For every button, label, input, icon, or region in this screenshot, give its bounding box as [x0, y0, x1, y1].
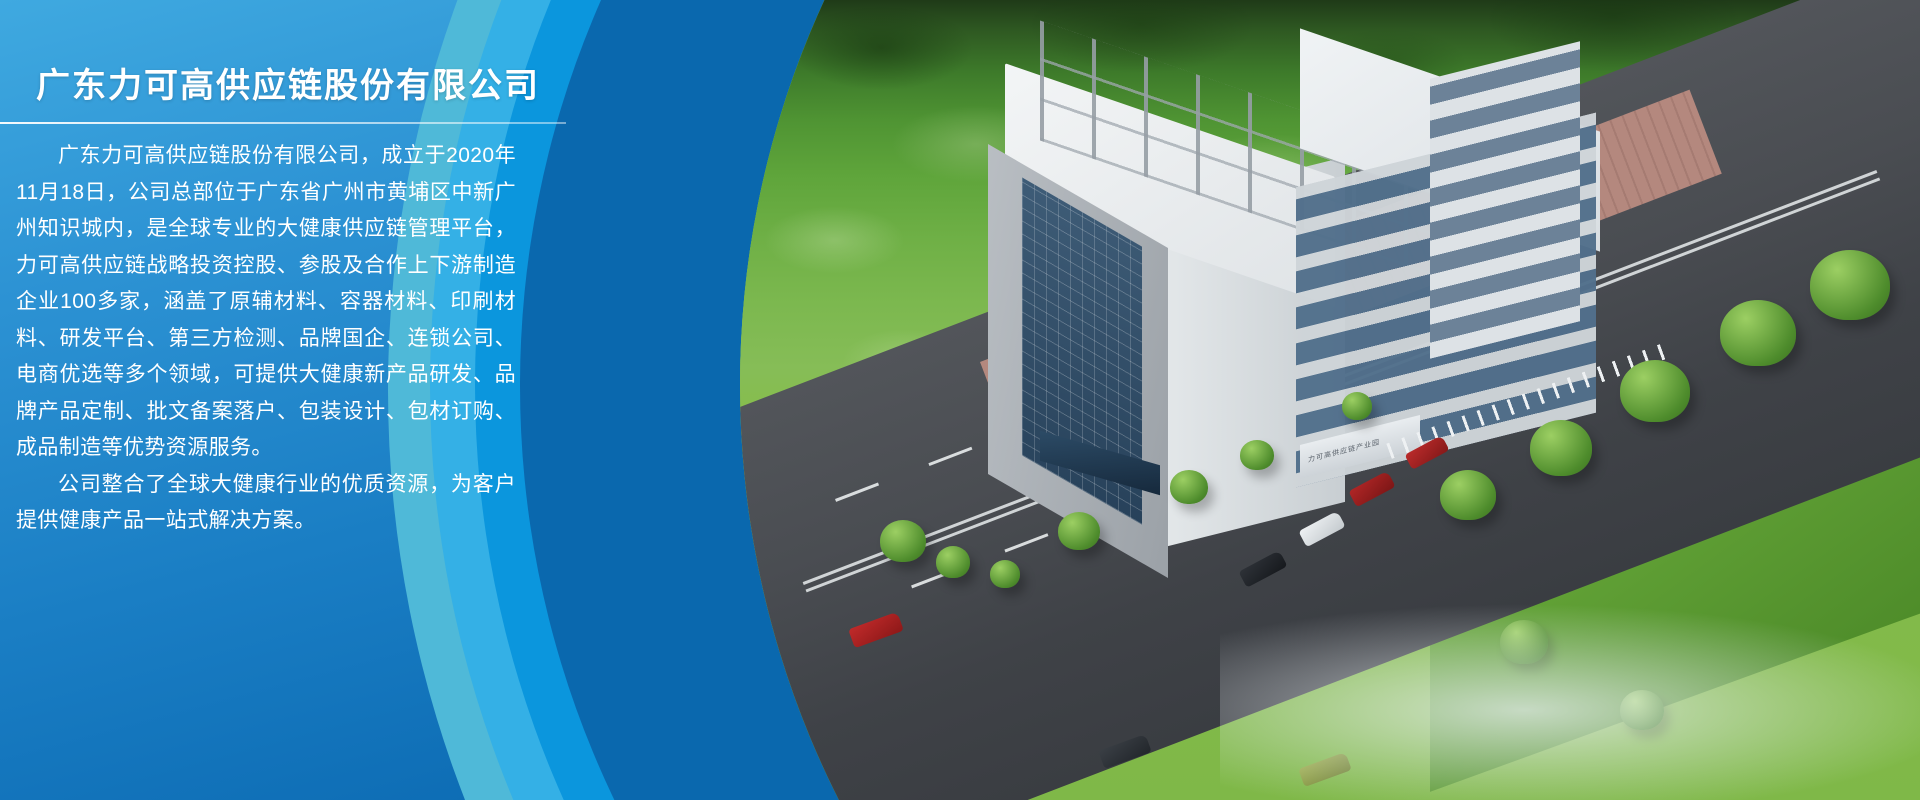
- company-description: 广东力可高供应链股份有限公司，成立于2020年11月18日，公司总部位于广东省广…: [16, 138, 516, 540]
- mist-overlay: [1220, 600, 1920, 800]
- tree: [1240, 440, 1274, 470]
- tree: [990, 560, 1020, 588]
- tree: [1170, 470, 1208, 504]
- tree: [1810, 250, 1890, 320]
- text-column: 广东力可高供应链股份有限公司 广东力可高供应链股份有限公司，成立于2020年11…: [0, 0, 620, 800]
- tree: [1058, 512, 1100, 550]
- tree: [1530, 420, 1592, 476]
- tree: [936, 546, 970, 578]
- building-photo-disc: 力可高供应链产业园: [740, 0, 1920, 800]
- paragraph-1: 广东力可高供应链股份有限公司，成立于2020年11月18日，公司总部位于广东省广…: [16, 138, 516, 467]
- tree: [1620, 360, 1690, 422]
- building-rendering-image: 力可高供应链产业园: [740, 0, 1920, 800]
- tree: [1342, 392, 1372, 420]
- third-building-facade: [1430, 41, 1580, 358]
- paragraph-2: 公司整合了全球大健康行业的优质资源，为客户提供健康产品一站式解决方案。: [16, 467, 516, 540]
- title-divider: [0, 122, 566, 124]
- company-profile-banner: 力可高供应链产业园: [0, 0, 1920, 800]
- page-title: 广东力可高供应链股份有限公司: [36, 58, 540, 107]
- tree: [1720, 300, 1796, 366]
- tree: [1440, 470, 1496, 520]
- tree: [880, 520, 926, 562]
